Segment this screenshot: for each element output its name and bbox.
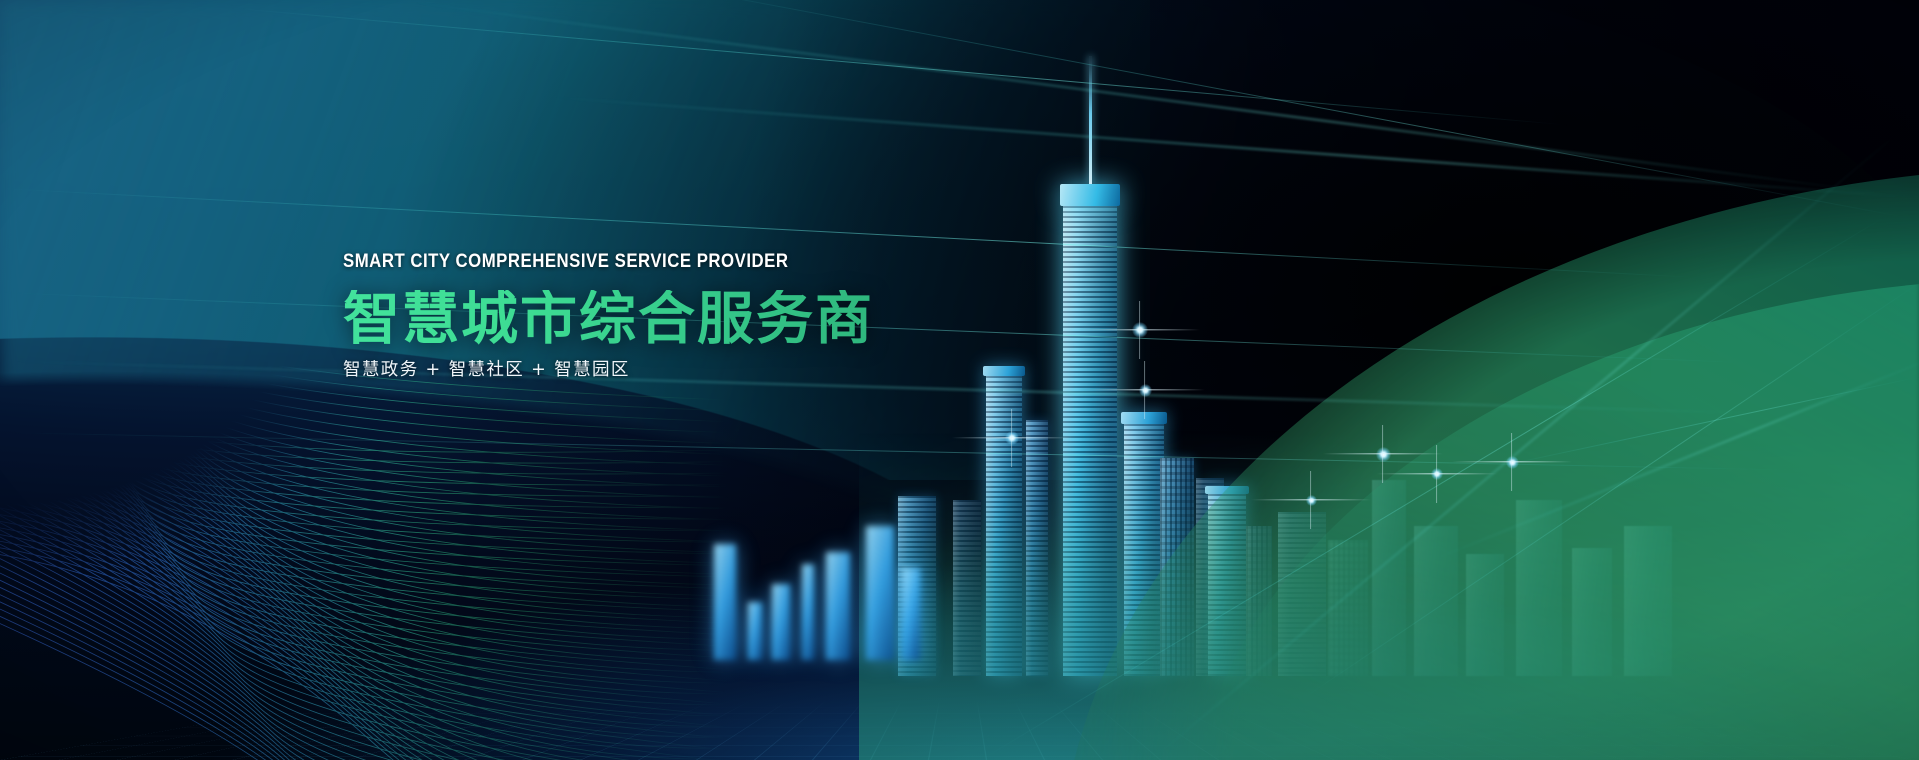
- building: [1124, 424, 1164, 676]
- lens-flare-icon: [1306, 495, 1317, 506]
- lens-flare-icon: [1431, 468, 1443, 480]
- building: [1372, 480, 1406, 676]
- building-windows: [1246, 526, 1272, 676]
- lens-flare-icon: [1139, 384, 1152, 397]
- bottom-right-green-glow: [1159, 200, 1919, 760]
- light-beam: [640, 0, 1908, 218]
- building-windows: [898, 496, 936, 676]
- foreground-building-bar: [748, 602, 762, 660]
- building-crown: [1060, 184, 1120, 206]
- building: [1624, 526, 1672, 676]
- building-shading: [1278, 512, 1326, 676]
- ground-grid: [0, 701, 1919, 760]
- city-skyline: [0, 0, 1919, 760]
- building-windows: [1026, 420, 1048, 676]
- sky-darkening-overlay: [0, 0, 1919, 760]
- foreground-building-bar: [826, 552, 850, 660]
- building: [1026, 420, 1048, 676]
- building: [1278, 512, 1326, 676]
- smart-city-hero-banner: SMART CITY COMPREHENSIVE SERVICE PROVIDE…: [0, 0, 1919, 760]
- green-city-wash: [859, 430, 1919, 760]
- bottom-right-green-swoosh: [1059, 70, 1919, 760]
- building: [1246, 526, 1272, 676]
- lens-sparkles: [0, 0, 1919, 760]
- subtitle-services: 智慧政务 + 智慧社区 + 智慧园区: [343, 362, 1103, 380]
- antenna-spire: [1089, 56, 1092, 184]
- building: [898, 496, 936, 676]
- lens-flare-icon: [1506, 456, 1519, 469]
- night-sky-background: [0, 0, 1919, 760]
- building: [1196, 478, 1224, 676]
- building-windows: [1160, 458, 1194, 676]
- light-beam: [1300, 275, 1919, 701]
- building: [1160, 458, 1194, 676]
- building-shading: [1208, 494, 1246, 676]
- light-beam: [402, 0, 1890, 195]
- building: [986, 376, 1022, 676]
- building: [1572, 548, 1612, 676]
- building-windows: [986, 376, 1022, 676]
- building: [953, 500, 981, 676]
- building-shading: [1196, 478, 1224, 676]
- building: [1208, 494, 1246, 676]
- lens-flare-icon: [1132, 322, 1148, 338]
- building-shading: [1160, 458, 1194, 676]
- foreground-building-bar: [714, 544, 736, 660]
- building: [1414, 526, 1458, 676]
- building-shading: [898, 496, 936, 676]
- building: [1516, 500, 1562, 676]
- building-shading: [1026, 420, 1048, 676]
- building-windows: [953, 500, 981, 676]
- light-beam: [980, 214, 1889, 760]
- light-beam: [236, 8, 1571, 126]
- lens-flare-icon: [1376, 447, 1391, 462]
- foreground-building-bar: [902, 568, 920, 660]
- eyebrow-tagline: SMART CITY COMPREHENSIVE SERVICE PROVIDE…: [343, 252, 997, 272]
- building: [1466, 554, 1504, 676]
- light-beam: [1430, 350, 1919, 562]
- building-shading: [986, 376, 1022, 676]
- ground-glow: [0, 530, 1919, 760]
- building-shading: [1572, 548, 1612, 676]
- building-shading: [953, 500, 981, 676]
- building-shading: [1328, 540, 1368, 676]
- light-beam: [1149, 130, 1901, 760]
- building-shading: [1414, 526, 1458, 676]
- foreground-blurred-buildings: [0, 0, 1919, 760]
- building-shading: [1246, 526, 1272, 676]
- vignette-overlay: [0, 0, 1919, 760]
- light-beam: [548, 96, 1912, 198]
- lens-flare-icon: [1005, 431, 1019, 445]
- foreground-building-bar: [802, 564, 814, 660]
- building-crown: [1121, 412, 1167, 424]
- light-beam: [0, 432, 1800, 471]
- foreground-building-bar: [772, 584, 790, 660]
- building-windows: [1278, 512, 1326, 676]
- building-shading: [1466, 554, 1504, 676]
- hero-text-block: SMART CITY COMPREHENSIVE SERVICE PROVIDE…: [343, 252, 1103, 379]
- building-windows: [1196, 478, 1224, 676]
- building-shading: [1516, 500, 1562, 676]
- building-shading: [1624, 526, 1672, 676]
- light-beam: [1498, 377, 1919, 467]
- building-crown: [1205, 486, 1249, 494]
- foreground-building-bar: [866, 526, 894, 660]
- light-beams: [0, 0, 1919, 760]
- building-shading: [1124, 424, 1164, 676]
- top-left-teal-swoosh: [0, 0, 1150, 480]
- page-title: 智慧城市综合服务商: [343, 290, 1103, 348]
- building-windows: [1208, 494, 1246, 676]
- building-shading: [1372, 480, 1406, 676]
- building-windows: [1124, 424, 1164, 676]
- building-windows: [1328, 540, 1368, 676]
- building: [1328, 540, 1368, 676]
